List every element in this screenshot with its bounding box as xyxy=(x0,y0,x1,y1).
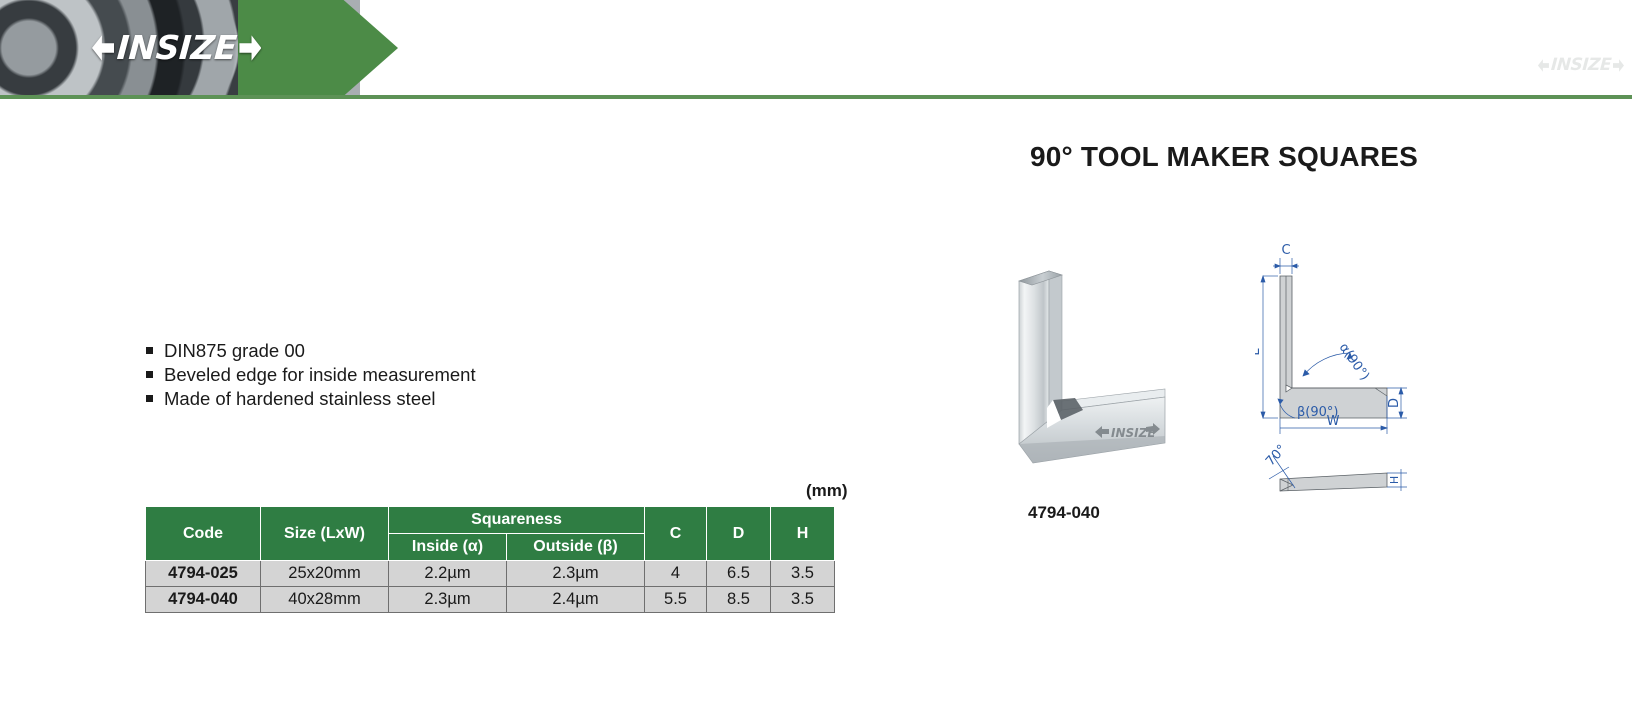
insize-logo: INSIZE xyxy=(92,33,261,63)
header-squareness: Squareness xyxy=(389,507,645,534)
page-title: 90° TOOL MAKER SQUARES xyxy=(1030,141,1418,173)
unit-label: (mm) xyxy=(806,481,848,501)
cell-d: 8.5 xyxy=(707,587,771,613)
header-d: D xyxy=(707,507,771,561)
l-arrow-bottom xyxy=(1261,412,1265,418)
label-d: D xyxy=(1387,398,1402,408)
header-inside: Inside (α) xyxy=(389,534,507,561)
cell-code: 4794-025 xyxy=(146,561,261,587)
list-item: Made of hardened stainless steel xyxy=(146,387,476,411)
cell-c: 4 xyxy=(645,561,707,587)
cell-inside: 2.3µm xyxy=(389,587,507,613)
header-size: Size (LxW) xyxy=(261,507,389,561)
table-row: 4794-025 25x20mm 2.2µm 2.3µm 4 6.5 3.5 xyxy=(146,561,835,587)
header-h: H xyxy=(771,507,835,561)
list-item: DIN875 grade 00 xyxy=(146,339,476,363)
square-blade-face xyxy=(1019,271,1049,444)
page-header: INSIZE INSIZE xyxy=(0,0,1632,101)
cell-h: 3.5 xyxy=(771,561,835,587)
square-bullet-icon xyxy=(146,371,153,378)
table-row: 4794-040 40x28mm 2.3µm 2.4µm 5.5 8.5 3.5 xyxy=(146,587,835,613)
product-caption: 4794-040 xyxy=(1028,503,1100,523)
w-arrow-right xyxy=(1381,426,1387,430)
list-item: Beveled edge for inside measurement xyxy=(146,363,476,387)
d-arrow-top xyxy=(1399,388,1403,394)
cell-outside: 2.3µm xyxy=(507,561,645,587)
square-bullet-icon xyxy=(146,395,153,402)
c-arrow-right xyxy=(1292,264,1297,268)
insize-watermark-logo: INSIZE xyxy=(1538,58,1624,73)
label-l: L xyxy=(1255,348,1263,356)
arrow-right-icon xyxy=(239,33,261,63)
alpha-arrow-a xyxy=(1303,370,1309,376)
l-arrow-top xyxy=(1261,276,1265,282)
insize-logo-text: INSIZE xyxy=(115,33,239,63)
cell-d: 6.5 xyxy=(707,561,771,587)
table-header-row-1: Code Size (LxW) Squareness C D H xyxy=(146,507,835,534)
product-photo: INSIZE xyxy=(975,258,1180,493)
label-bevel-angle: 70° xyxy=(1263,442,1290,469)
label-beta: β(90°) xyxy=(1297,405,1338,420)
arrow-right-icon xyxy=(1613,58,1624,73)
arrow-left-icon xyxy=(92,33,114,63)
header-white-background xyxy=(360,0,1632,95)
cell-code: 4794-040 xyxy=(146,587,261,613)
cell-size: 40x28mm xyxy=(261,587,389,613)
header-c: C xyxy=(645,507,707,561)
square-bullet-icon xyxy=(146,347,153,354)
cell-size: 25x20mm xyxy=(261,561,389,587)
cell-inside: 2.2µm xyxy=(389,561,507,587)
header-green-rule xyxy=(0,95,1632,99)
label-alpha: α(90°) xyxy=(1336,341,1372,384)
arrow-left-icon xyxy=(1538,58,1549,73)
feature-text: DIN875 grade 00 xyxy=(164,339,305,363)
feature-list: DIN875 grade 00 Beveled edge for inside … xyxy=(146,339,476,411)
cell-outside: 2.4µm xyxy=(507,587,645,613)
header-code: Code xyxy=(146,507,261,561)
bevel-tick xyxy=(1269,467,1289,479)
feature-text: Beveled edge for inside measurement xyxy=(164,363,476,387)
cross-section-bar xyxy=(1280,473,1387,491)
insize-watermark-text: INSIZE xyxy=(1549,58,1612,73)
label-c: C xyxy=(1281,243,1290,258)
c-arrow-left xyxy=(1275,264,1280,268)
label-h: H xyxy=(1388,476,1401,484)
header-outside: Outside (β) xyxy=(507,534,645,561)
feature-text: Made of hardened stainless steel xyxy=(164,387,436,411)
cell-h: 3.5 xyxy=(771,587,835,613)
square-body-outline xyxy=(1280,276,1387,418)
specifications-table: Code Size (LxW) Squareness C D H Inside … xyxy=(145,506,835,613)
cell-c: 5.5 xyxy=(645,587,707,613)
technical-drawing: C L W D H α(90°) β(90°) 70° xyxy=(1255,236,1455,526)
d-arrow-bottom xyxy=(1399,412,1403,418)
